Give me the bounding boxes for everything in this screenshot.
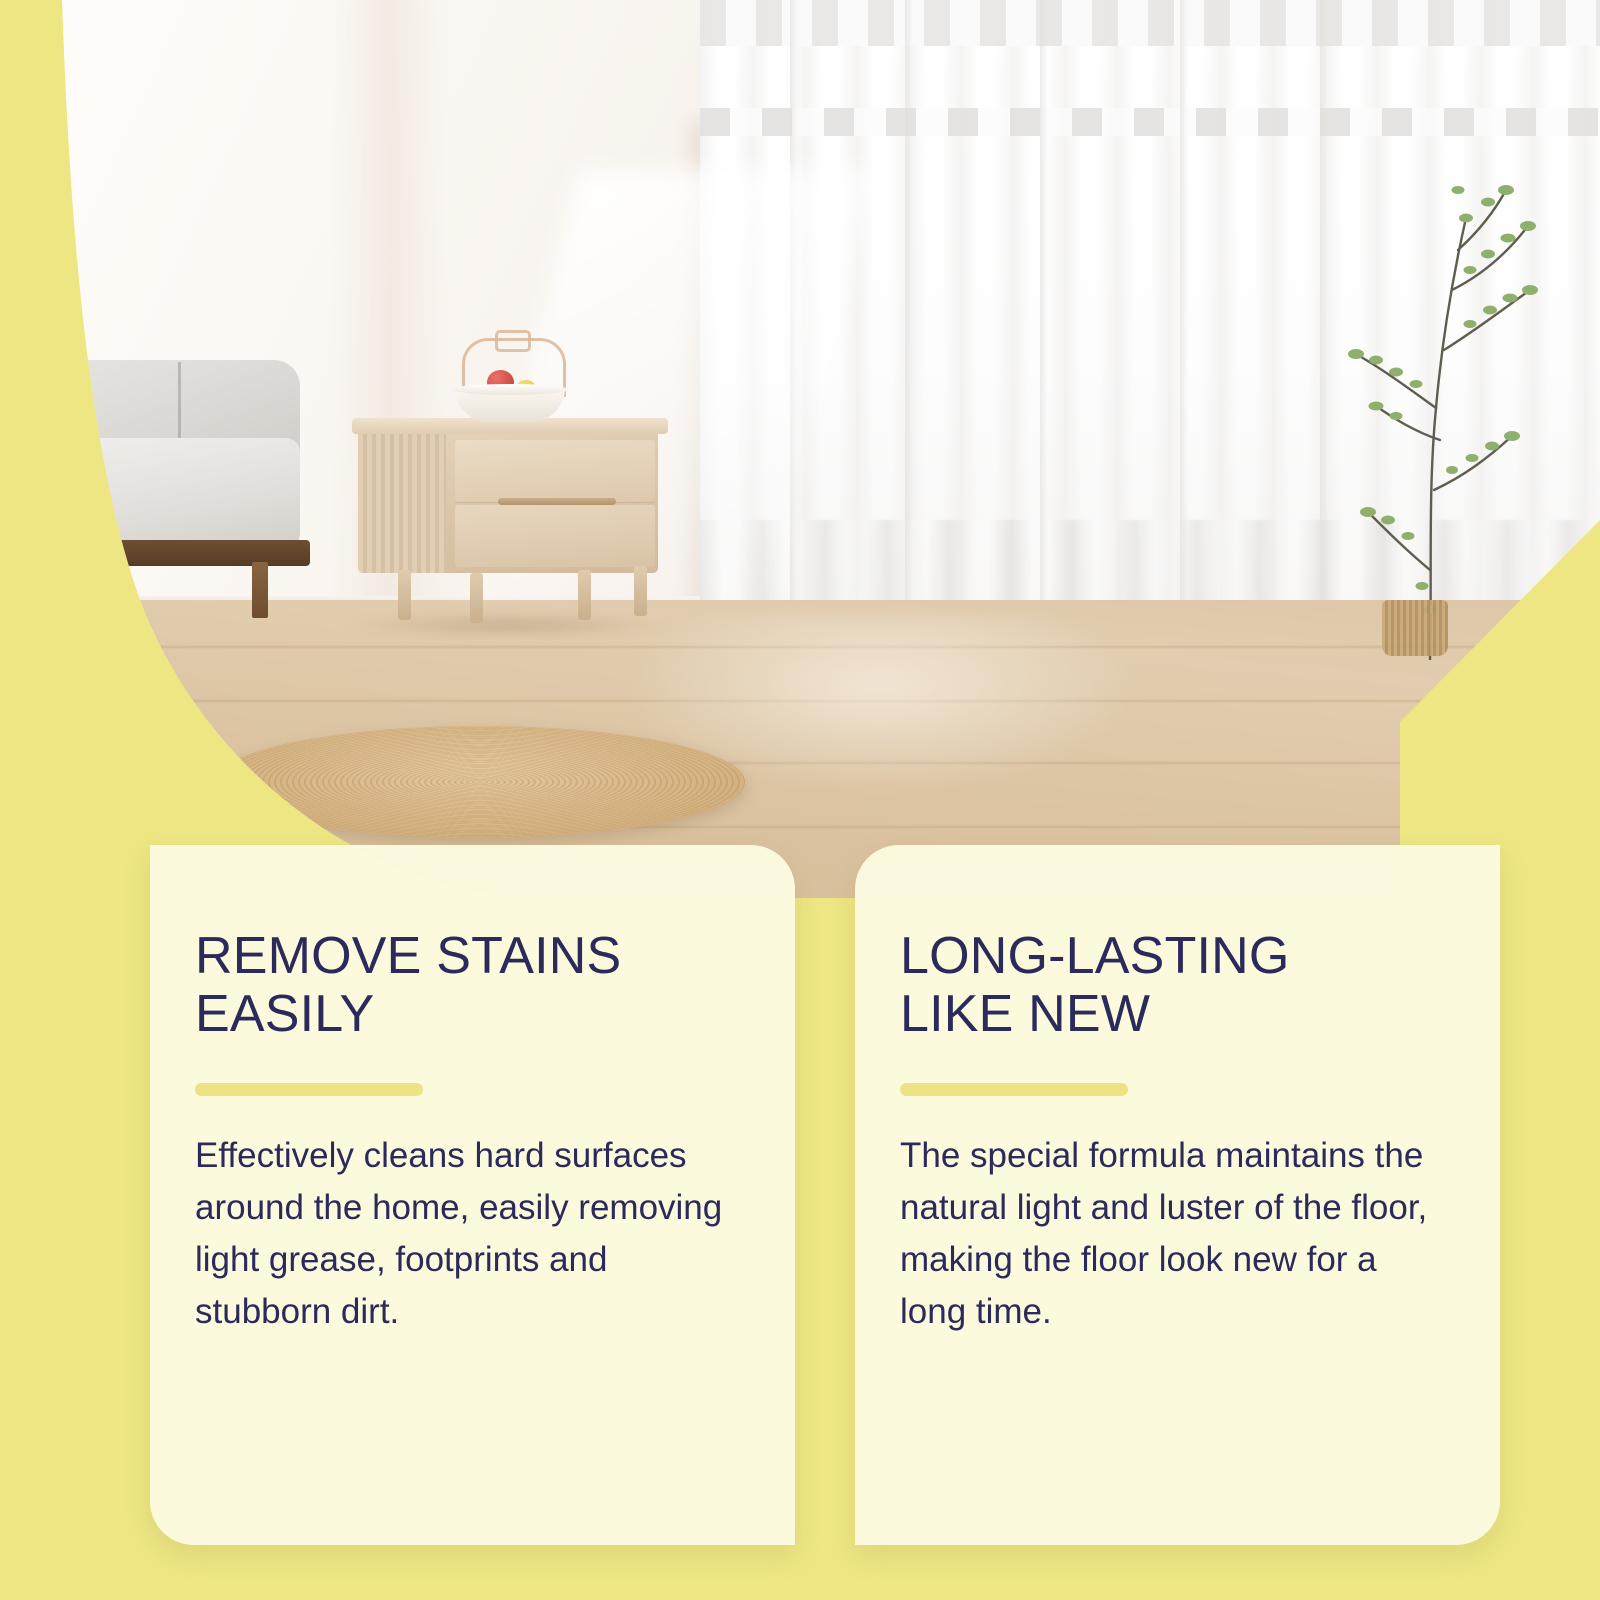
feature-card-long-lasting: LONG-LASTING LIKE NEW The special formul… (855, 845, 1500, 1545)
feature-card-body: Effectively cleans hard surfaces around … (195, 1130, 737, 1337)
product-feature-banner: REMOVE STAINS EASILY Effectively cleans … (0, 0, 1600, 1600)
feature-cards: REMOVE STAINS EASILY Effectively cleans … (0, 0, 1600, 1600)
feature-card-heading: LONG-LASTING LIKE NEW (900, 927, 1442, 1043)
feature-card-remove-stains: REMOVE STAINS EASILY Effectively cleans … (150, 845, 795, 1545)
feature-card-body: The special formula maintains the natura… (900, 1130, 1442, 1337)
accent-bar (195, 1083, 423, 1096)
accent-bar (900, 1083, 1128, 1096)
feature-card-heading: REMOVE STAINS EASILY (195, 927, 737, 1043)
